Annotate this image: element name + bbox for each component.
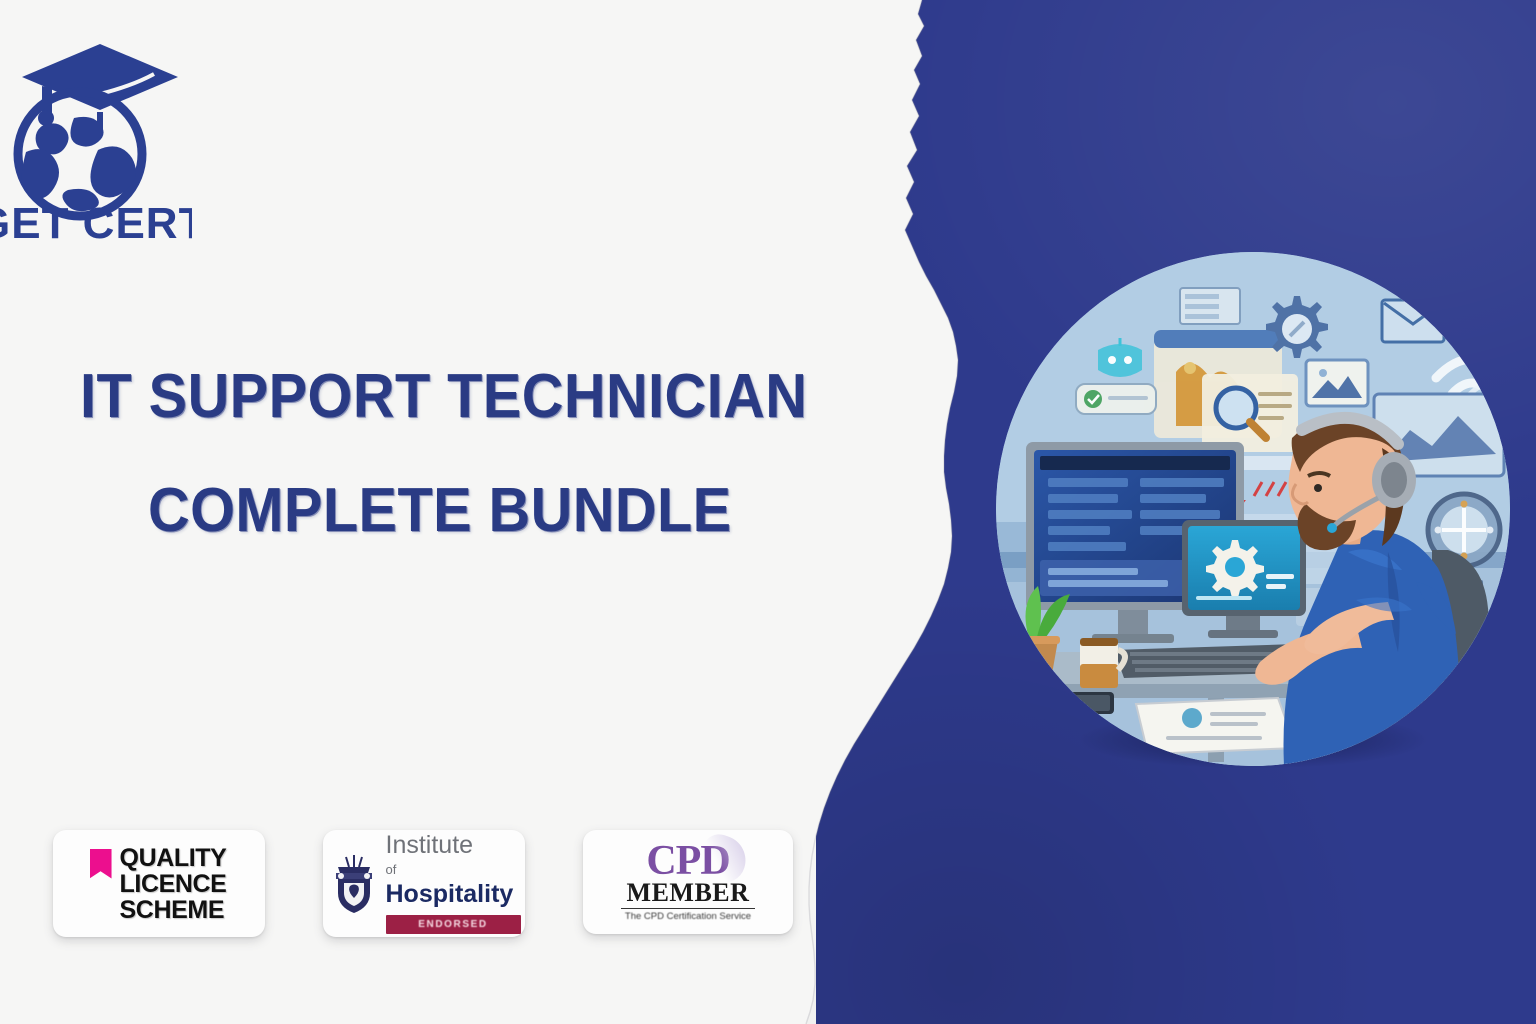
ioh-line-institute: Institute bbox=[386, 833, 474, 858]
graduation-cap-icon bbox=[22, 44, 178, 130]
ioh-line-hospitality: Hospitality bbox=[386, 880, 514, 908]
qls-line-3: SCHEME bbox=[120, 897, 227, 923]
gear-icon bbox=[1206, 540, 1264, 598]
globe-icon bbox=[18, 92, 142, 216]
bookmark-ribbon-icon bbox=[90, 849, 112, 879]
qls-line-2: LICENCE bbox=[120, 871, 227, 897]
get-certify-logo[interactable]: GET CERTIFY bbox=[0, 22, 192, 242]
headline-line-2: COMPLETE BUNDLE bbox=[148, 480, 792, 542]
it-support-technician-illustration bbox=[996, 252, 1510, 766]
cpd-title: CPD bbox=[646, 842, 729, 880]
logo-wordmark: GET CERTIFY bbox=[0, 199, 192, 242]
gear-icon bbox=[1266, 296, 1328, 358]
ioh-endorsed-label: ENDORSED bbox=[418, 919, 487, 930]
badge-cpd-member[interactable]: CPD MEMBER The CPD Certification Service bbox=[583, 830, 793, 934]
badge-institute-of-hospitality[interactable]: Institute of Hospitality ENDORSED bbox=[323, 830, 525, 937]
headline-line-1: IT SUPPORT TECHNICIAN bbox=[80, 366, 787, 428]
cpd-divider bbox=[621, 908, 755, 909]
ioh-endorsed-band: ENDORSED bbox=[386, 915, 521, 934]
course-promo-banner: GET CERTIFY IT SUPPORT TECHNICIAN COMPLE… bbox=[0, 0, 1536, 1024]
page-title: IT SUPPORT TECHNICIAN COMPLETE BUNDLE bbox=[80, 366, 840, 542]
accreditation-badges: QUALITY LICENCE SCHEME bbox=[53, 830, 793, 937]
qls-line-1: QUALITY bbox=[120, 845, 227, 871]
heraldic-crest-icon bbox=[328, 853, 380, 915]
cpd-footnote: The CPD Certification Service bbox=[613, 911, 763, 922]
badge-quality-licence-scheme[interactable]: QUALITY LICENCE SCHEME bbox=[53, 830, 265, 937]
ioh-line-of: of bbox=[386, 862, 397, 877]
documents bbox=[1136, 698, 1296, 754]
checkmark-icon bbox=[1084, 390, 1102, 408]
image-icon bbox=[1306, 360, 1368, 406]
